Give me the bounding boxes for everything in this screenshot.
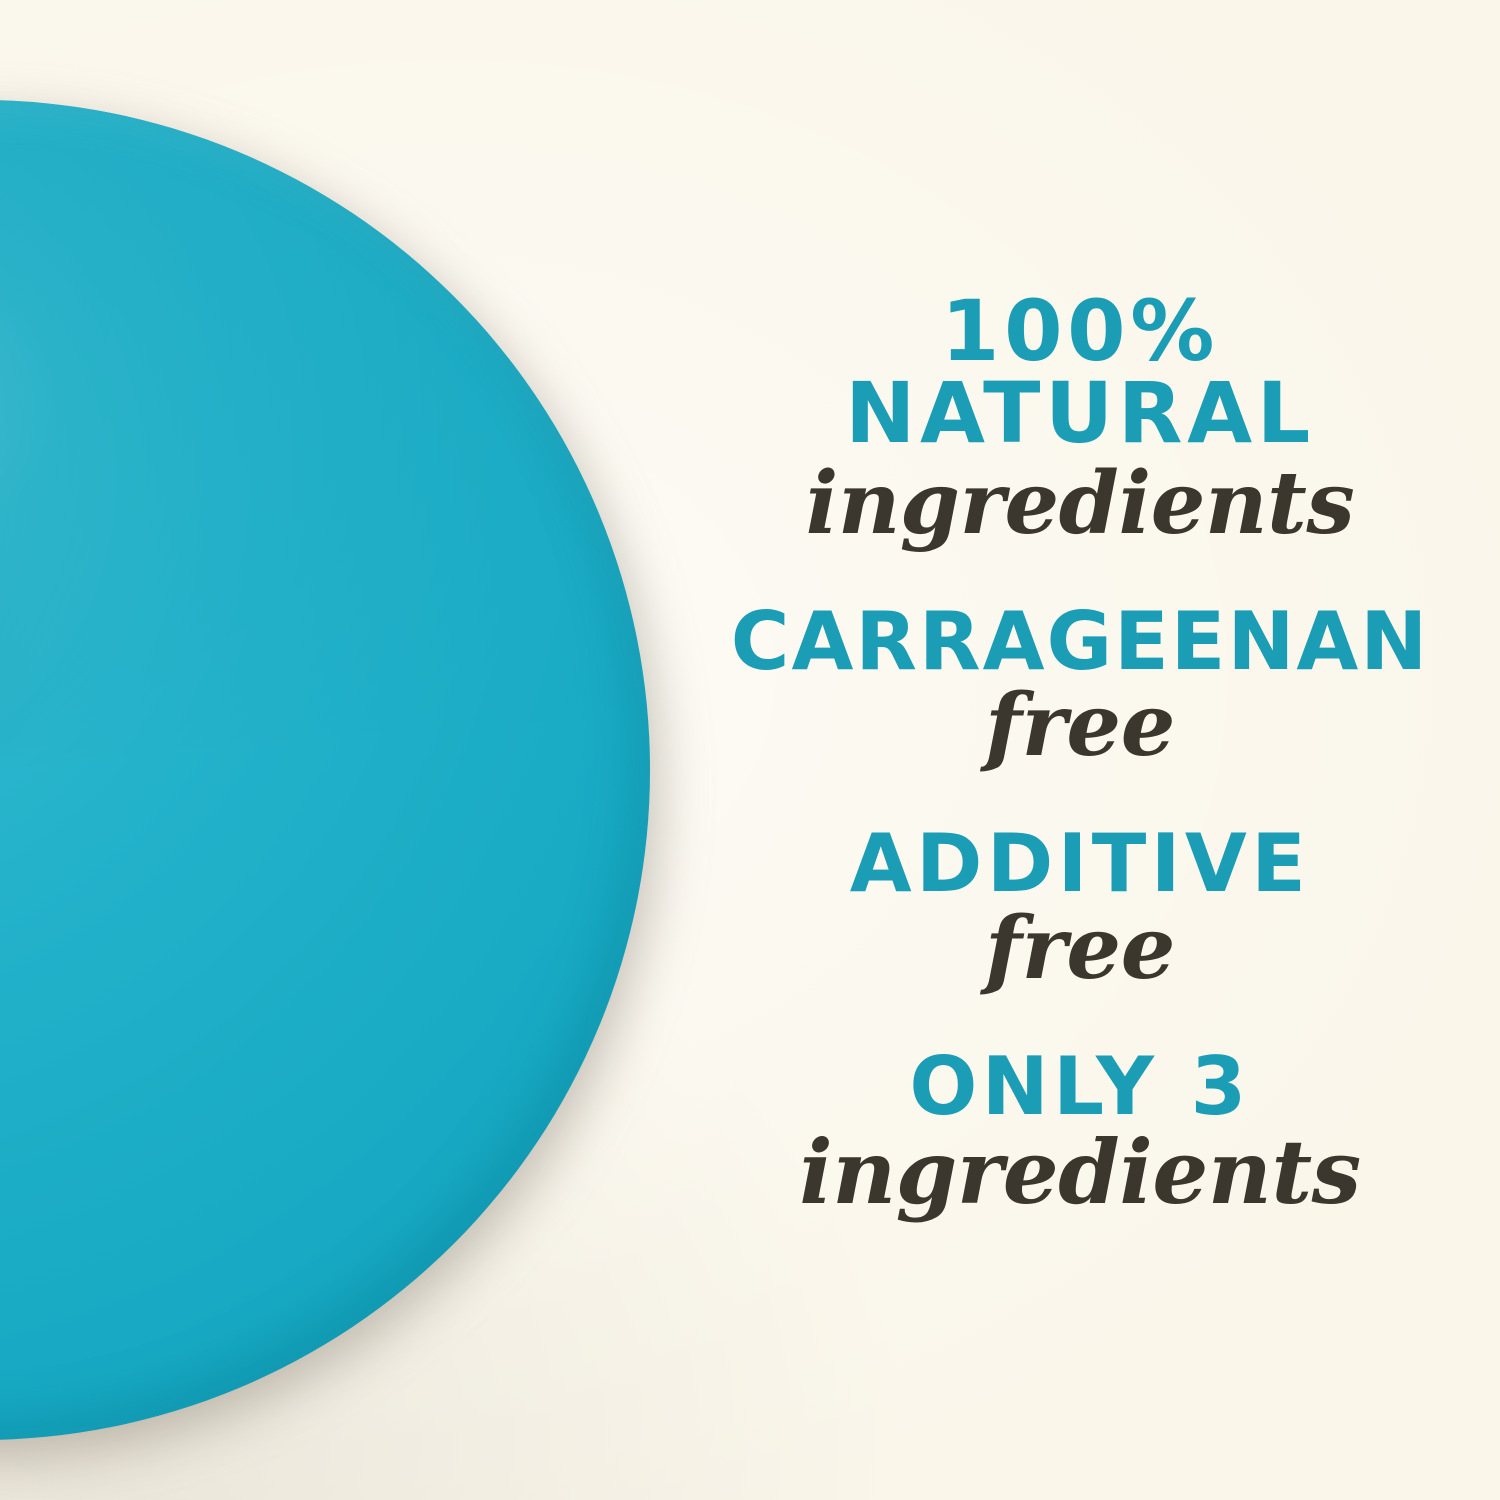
claim-script: free xyxy=(660,683,1500,769)
claim-headline: ONLY 3 xyxy=(660,1048,1500,1126)
claim-headline: CARRAGEENAN xyxy=(660,603,1500,681)
claim-headline: ADDITIVE xyxy=(660,825,1500,903)
plate-photo xyxy=(0,100,650,1440)
claim-carrageenan-free: CARRAGEENAN free xyxy=(660,603,1500,769)
product-claims-graphic: 100% NATURAL ingredients CARRAGEENAN fre… xyxy=(0,0,1500,1500)
claim-natural-ingredients: 100% NATURAL ingredients xyxy=(660,290,1500,547)
claim-only-3-ingredients: ONLY 3 ingredients xyxy=(660,1048,1500,1216)
claim-additive-free: ADDITIVE free xyxy=(660,825,1500,991)
claim-script: ingredients xyxy=(660,1128,1500,1216)
teal-plate xyxy=(0,100,650,1440)
claims-column: 100% NATURAL ingredients CARRAGEENAN fre… xyxy=(660,0,1500,1500)
claim-headline: 100% NATURAL xyxy=(660,290,1500,455)
claim-script: free xyxy=(660,906,1500,992)
claim-script: ingredients xyxy=(660,461,1500,547)
